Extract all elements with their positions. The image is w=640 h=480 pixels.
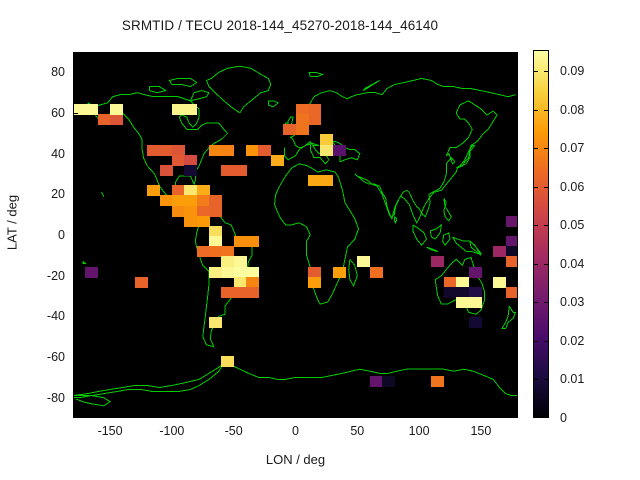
colorbar-tick-mark (544, 110, 548, 111)
heatmap-cell (506, 287, 518, 298)
colorbar-tick-mark (534, 110, 538, 111)
y-axis-tick-mark (73, 235, 78, 236)
heatmap-cell (135, 277, 148, 288)
x-axis-tick-label: 100 (409, 424, 430, 438)
heatmap-cell (333, 267, 346, 278)
heatmap-cell (197, 246, 210, 257)
heatmap-cell (172, 206, 185, 217)
heatmap-cell (382, 376, 395, 387)
x-axis-tick-mark (296, 413, 297, 418)
colorbar-tick-mark (544, 225, 548, 226)
heatmap-cells (73, 52, 518, 418)
heatmap-cell (234, 236, 247, 247)
heatmap-cell (308, 277, 321, 288)
heatmap-cell (320, 134, 333, 145)
heatmap-cell (85, 104, 98, 115)
colorbar-tick-mark (534, 302, 538, 303)
heatmap-cell (493, 277, 506, 288)
heatmap-cell (506, 256, 518, 267)
heatmap-cell (160, 195, 173, 206)
heatmap-cell (221, 356, 234, 367)
colorbar-tick-mark (544, 379, 548, 380)
heatmap-cell (370, 267, 383, 278)
colorbar-tick-mark (534, 225, 538, 226)
page-title: SRMTID / TECU 2018-144_45270-2018-144_46… (0, 18, 560, 33)
colorbar-tick-mark (534, 379, 538, 380)
heatmap-cell (357, 256, 370, 267)
y-axis-tick-label: -60 (5, 350, 65, 364)
heatmap-cell (221, 287, 234, 298)
heatmap-cell (221, 267, 234, 278)
heatmap-cell (234, 165, 247, 176)
colorbar-tick-mark (534, 71, 538, 72)
heatmap-cell (147, 185, 160, 196)
heatmap-cell (184, 216, 197, 227)
heatmap-cell (258, 145, 271, 156)
y-axis-tick-mark (73, 154, 78, 155)
x-axis-label: LON / deg (73, 452, 518, 467)
x-axis-tick-mark (419, 413, 420, 418)
heatmap-cell (320, 175, 333, 186)
x-axis-tick-mark (481, 413, 482, 418)
heatmap-cell (221, 165, 234, 176)
x-axis-tick-label: 50 (350, 424, 364, 438)
heatmap-cell (246, 287, 259, 298)
heatmap-cell (333, 145, 346, 156)
colorbar-gradient (533, 50, 549, 418)
heatmap-cell (197, 216, 210, 227)
colorbar-tick-label: 0.04 (560, 257, 584, 271)
x-axis-tick-label: -100 (159, 424, 184, 438)
colorbar-tick-mark (544, 71, 548, 72)
heatmap-cell (209, 206, 222, 217)
heatmap-cell (431, 376, 444, 387)
colorbar-tick-label: 0.08 (560, 103, 584, 117)
heatmap-cell (493, 246, 506, 257)
y-axis-tick-label: 40 (5, 147, 65, 161)
heatmap-cell (234, 287, 247, 298)
y-axis-label: LAT / deg (5, 163, 20, 283)
heatmap-cell (469, 297, 482, 308)
colorbar-tick-label: 0.06 (560, 180, 584, 194)
heatmap-cell (147, 145, 160, 156)
heatmap-cell (246, 236, 259, 247)
y-axis-tick-label: 80 (5, 65, 65, 79)
map-plot-area (73, 52, 518, 418)
colorbar-tick-label: 0.03 (560, 295, 584, 309)
heatmap-cell (209, 145, 222, 156)
colorbar-tick-label: 0.05 (560, 218, 584, 232)
x-axis-tick-mark (357, 413, 358, 418)
heatmap-cell (296, 124, 309, 135)
heatmap-cell (110, 114, 123, 125)
colorbar (533, 50, 549, 418)
heatmap-cell (469, 267, 482, 278)
heatmap-cell (172, 155, 185, 166)
colorbar-tick-label: 0.07 (560, 141, 584, 155)
x-axis-tick-mark (234, 413, 235, 418)
colorbar-tick-label: 0.09 (560, 64, 584, 78)
heatmap-cell (85, 267, 98, 278)
y-axis-tick-label: 60 (5, 106, 65, 120)
x-axis-tick-label: 0 (292, 424, 299, 438)
heatmap-cell (283, 124, 296, 135)
colorbar-tick-mark (534, 148, 538, 149)
y-axis-tick-mark (73, 194, 78, 195)
colorbar-tick-mark (544, 302, 548, 303)
heatmap-cell (456, 297, 469, 308)
heatmap-cell (209, 267, 222, 278)
y-axis-tick-mark (73, 113, 78, 114)
colorbar-tick-label: 0 (560, 411, 567, 425)
x-axis-tick-label: -50 (225, 424, 243, 438)
heatmap-cell (469, 317, 482, 328)
heatmap-cell (431, 256, 444, 267)
x-axis-tick-label: 150 (470, 424, 491, 438)
colorbar-tick-mark (544, 148, 548, 149)
colorbar-tick-mark (534, 187, 538, 188)
x-axis-tick-mark (172, 413, 173, 418)
heatmap-cell (271, 155, 284, 166)
colorbar-tick-label: 0.02 (560, 334, 584, 348)
y-axis-tick-label: -80 (5, 391, 65, 405)
plot-root: SRMTID / TECU 2018-144_45270-2018-144_46… (0, 0, 640, 480)
y-axis-tick-mark (73, 316, 78, 317)
heatmap-cell (308, 175, 321, 186)
heatmap-cell (98, 114, 111, 125)
heatmap-cell (209, 317, 222, 328)
colorbar-tick-mark (534, 264, 538, 265)
colorbar-tick-mark (534, 341, 538, 342)
heatmap-cell (160, 145, 173, 156)
heatmap-cell (246, 145, 259, 156)
x-axis-tick-label: -150 (98, 424, 123, 438)
heatmap-cell (209, 246, 222, 257)
heatmap-cell (444, 287, 457, 298)
heatmap-cell (308, 114, 321, 125)
heatmap-cell (506, 216, 518, 227)
heatmap-cell (320, 145, 333, 156)
y-axis-tick-mark (73, 398, 78, 399)
heatmap-cell (221, 145, 234, 156)
heatmap-cell (160, 165, 173, 176)
colorbar-tick-mark (544, 341, 548, 342)
heatmap-cell (184, 104, 197, 115)
heatmap-cell (172, 104, 185, 115)
colorbar-tick-mark (544, 187, 548, 188)
colorbar-tick-mark (544, 264, 548, 265)
y-axis-tick-mark (73, 276, 78, 277)
y-axis-tick-mark (73, 357, 78, 358)
y-axis-tick-mark (73, 72, 78, 73)
heatmap-cell (110, 104, 123, 115)
heatmap-cell (370, 376, 383, 387)
colorbar-tick-label: 0.01 (560, 372, 584, 386)
x-axis-tick-mark (110, 413, 111, 418)
heatmap-cell (184, 165, 197, 176)
y-axis-tick-label: -40 (5, 309, 65, 323)
